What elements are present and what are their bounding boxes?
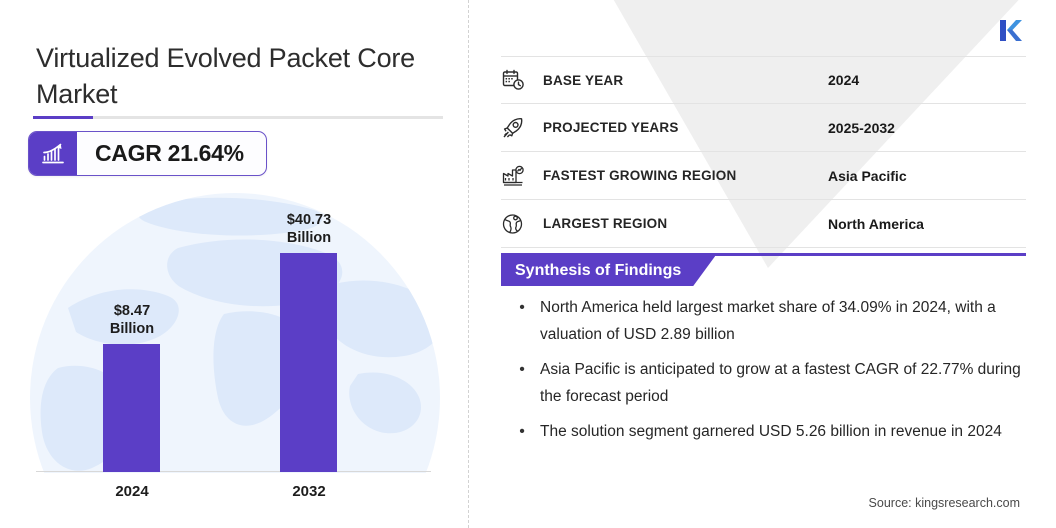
table-value: 2024	[828, 72, 1026, 88]
cagr-badge: CAGR 21.64%	[28, 131, 267, 176]
key-facts-table: BASE YEAR 2024 PROJECTED YEARS 2025	[501, 56, 1026, 248]
table-value: North America	[828, 216, 1026, 232]
chart-axis-line	[36, 471, 431, 472]
title-underline-accent	[33, 116, 443, 119]
bar-chart-growth-icon	[29, 132, 77, 175]
rocket-icon	[501, 116, 543, 140]
table-row: PROJECTED YEARS 2025-2032	[501, 104, 1026, 152]
right-panel: BASE YEAR 2024 PROJECTED YEARS 2025	[468, 0, 1056, 528]
market-report-infographic: Virtualized Evolved Packet Core Market	[0, 0, 1056, 528]
bar-value-2032-line1: $40.73	[287, 212, 331, 228]
bar-value-label-2024: $8.47 Billion	[88, 302, 176, 338]
cagr-value: CAGR 21.64%	[77, 132, 266, 175]
source-attribution: Source: kingsresearch.com	[869, 496, 1020, 510]
table-value: Asia Pacific	[828, 168, 1026, 184]
bar-2024	[103, 344, 160, 472]
bullet-icon: •	[504, 294, 540, 348]
table-row: FASTEST GROWING REGION Asia Pacific	[501, 152, 1026, 200]
globe-icon	[501, 212, 543, 236]
table-key: BASE YEAR	[543, 73, 828, 88]
bar-value-2032-line2: Billion	[287, 230, 331, 246]
finding-text: The solution segment garnered USD 5.26 b…	[540, 418, 1024, 445]
table-row: BASE YEAR 2024	[501, 56, 1026, 104]
table-key: FASTEST GROWING REGION	[543, 168, 828, 183]
bar-chart: $8.47 Billion 2024 $40.73 Billion 2032	[28, 188, 443, 508]
list-item: • Asia Pacific is anticipated to grow at…	[504, 356, 1024, 410]
x-axis-label-2032: 2032	[264, 483, 354, 500]
findings-top-rule	[501, 253, 1026, 256]
x-axis-label-2024: 2024	[88, 483, 176, 500]
findings-list: • North America held largest market shar…	[504, 294, 1024, 453]
list-item: • The solution segment garnered USD 5.26…	[504, 418, 1024, 445]
table-row: LARGEST REGION North America	[501, 200, 1026, 248]
table-key: PROJECTED YEARS	[543, 120, 828, 135]
findings-heading: Synthesis of Findings	[501, 256, 715, 286]
page-title: Virtualized Evolved Packet Core Market	[36, 40, 436, 112]
finding-text: North America held largest market share …	[540, 294, 1024, 348]
factory-growth-icon	[501, 164, 543, 188]
finding-text: Asia Pacific is anticipated to grow at a…	[540, 356, 1024, 410]
table-value: 2025-2032	[828, 120, 1026, 136]
bullet-icon: •	[504, 418, 540, 445]
list-item: • North America held largest market shar…	[504, 294, 1024, 348]
table-key: LARGEST REGION	[543, 216, 828, 231]
calendar-clock-icon	[501, 68, 543, 92]
bar-value-2024-line2: Billion	[110, 321, 154, 337]
kings-research-logo	[994, 14, 1026, 46]
bar-value-label-2032: $40.73 Billion	[264, 211, 354, 247]
bar-value-2024-line1: $8.47	[114, 303, 150, 319]
left-panel: Virtualized Evolved Packet Core Market	[0, 0, 468, 528]
bullet-icon: •	[504, 356, 540, 410]
bar-2032	[280, 253, 337, 472]
